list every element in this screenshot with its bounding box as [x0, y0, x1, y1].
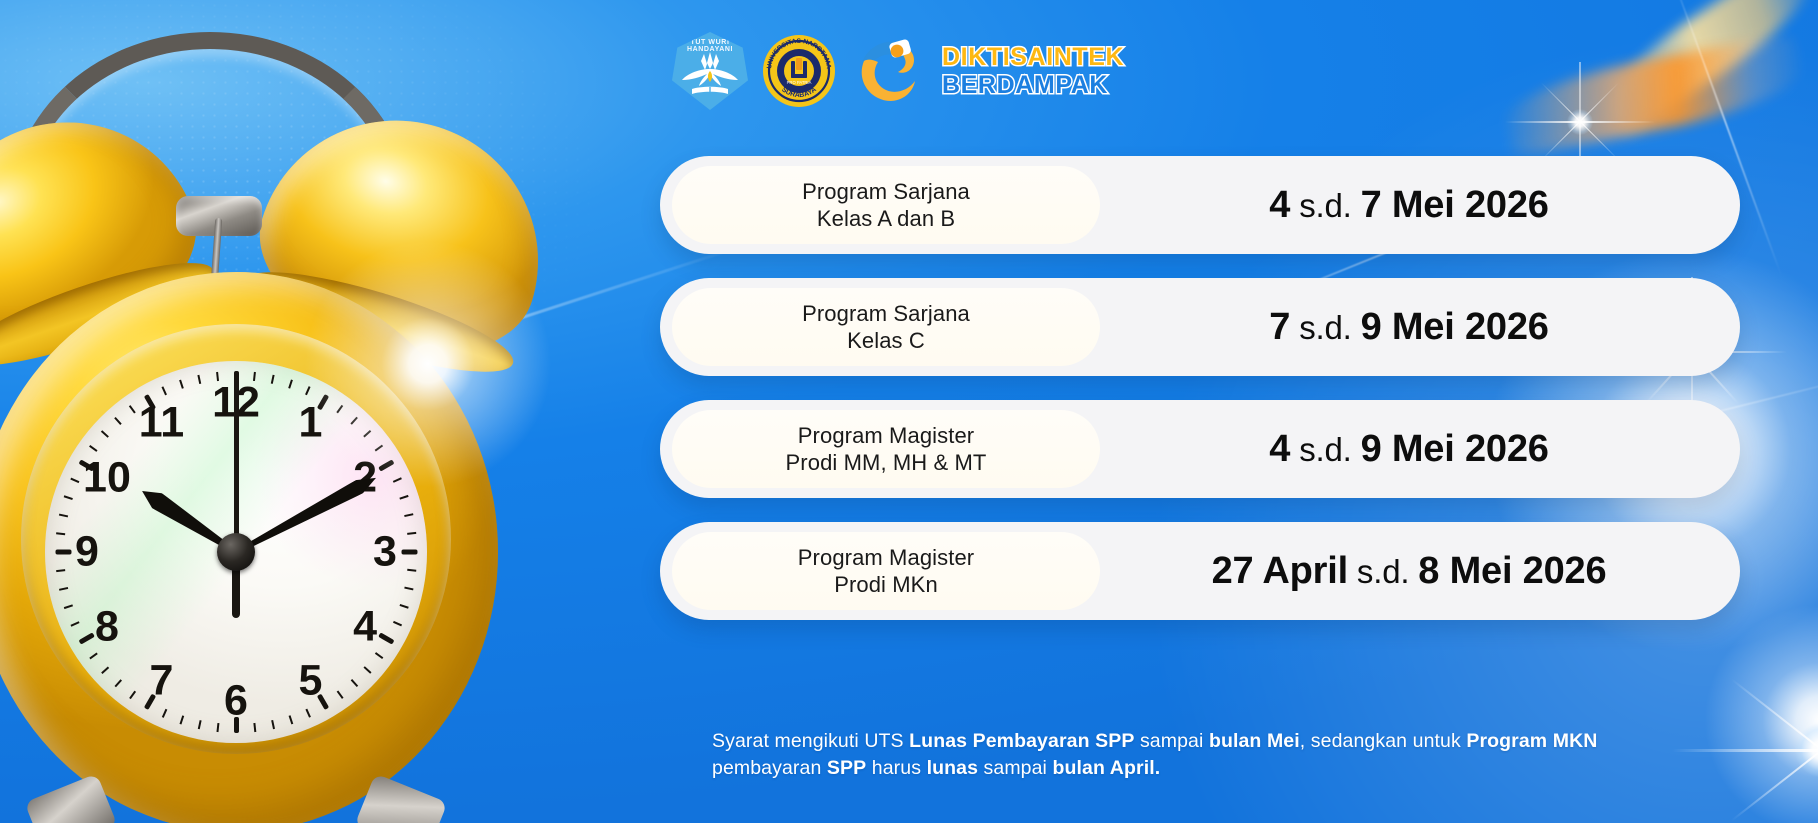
date-end: 8 Mei 2026: [1418, 550, 1606, 592]
footer-emphasis: SPP: [827, 757, 866, 779]
footer-emphasis: bulan April.: [1053, 757, 1161, 779]
footer-emphasis: lunas: [927, 757, 978, 779]
program-label: Program MagisterProdi MKn: [798, 544, 974, 599]
footer-text: Syarat mengikuti UTS: [712, 730, 909, 752]
program-label-line2: Kelas A dan B: [802, 205, 970, 232]
program-label-line1: Program Magister: [798, 544, 974, 571]
date-end: 7 Mei 2026: [1361, 184, 1549, 226]
brand-line-diktisaintek: DIKTISAINTEK: [942, 45, 1124, 70]
schedule-date: 7 s.d. 9 Mei 2026: [1100, 306, 1740, 349]
date-separator: s.d.: [1290, 431, 1360, 468]
date-start: 7: [1269, 306, 1290, 348]
schedule-card: Program SarjanaKelas A dan B4 s.d. 7 Mei…: [660, 156, 1740, 254]
footer-note: Syarat mengikuti UTS Lunas Pembayaran SP…: [712, 728, 1612, 782]
program-label-line1: Program Sarjana: [802, 300, 970, 327]
date-start: 27 April: [1212, 550, 1348, 592]
footer-text: pembayaran: [712, 757, 827, 779]
footer-text: sampai: [978, 757, 1053, 779]
date-separator: s.d.: [1290, 309, 1360, 346]
footer-emphasis: Program MKN: [1466, 730, 1597, 752]
diktisaintek-mark-icon: [850, 35, 920, 107]
schedule-date: 27 April s.d. 8 Mei 2026: [1100, 550, 1740, 593]
universitas-narotama-logo: PRO PATRIA UNIVERSITAS NAROTAMA SURABAYA: [762, 34, 836, 108]
program-label-line2: Prodi MM, MH & MT: [786, 449, 987, 476]
narotama-motto: PRO PATRIA: [787, 80, 812, 85]
program-label-line1: Program Magister: [786, 422, 987, 449]
program-label: Program SarjanaKelas C: [802, 300, 970, 355]
program-label-line1: Program Sarjana: [802, 178, 970, 205]
date-start: 4: [1269, 428, 1290, 470]
footer-text: , sedangkan untuk: [1300, 730, 1467, 752]
schedule-date: 4 s.d. 9 Mei 2026: [1100, 428, 1740, 471]
logo-row: TUT WURI HANDAYANI: [672, 32, 1124, 110]
program-label-pill: Program SarjanaKelas A dan B: [672, 166, 1100, 244]
program-label: Program SarjanaKelas A dan B: [802, 178, 970, 233]
tut-wuri-emblem-icon: [680, 49, 740, 97]
tut-wuri-handayani-logo: TUT WURI HANDAYANI: [672, 32, 748, 110]
schedule-card: Program SarjanaKelas C7 s.d. 9 Mei 2026: [660, 278, 1740, 376]
footer-text: sampai: [1134, 730, 1209, 752]
date-end: 9 Mei 2026: [1361, 306, 1549, 348]
program-label-pill: Program MagisterProdi MM, MH & MT: [672, 410, 1100, 488]
program-label-line2: Kelas C: [802, 327, 970, 354]
date-start: 4: [1269, 184, 1290, 226]
program-label: Program MagisterProdi MM, MH & MT: [786, 422, 987, 477]
schedule-card: Program MagisterProdi MKn27 April s.d. 8…: [660, 522, 1740, 620]
poster-stage: 121234567891011 TUT WURI HANDAYANI: [0, 0, 1818, 823]
schedule-card-list: Program SarjanaKelas A dan B4 s.d. 7 Mei…: [660, 156, 1740, 620]
program-label-pill: Program SarjanaKelas C: [672, 288, 1100, 366]
schedule-card: Program MagisterProdi MM, MH & MT4 s.d. …: [660, 400, 1740, 498]
date-separator: s.d.: [1348, 553, 1418, 590]
brand-line-berdampak: BERDAMPAK: [942, 73, 1124, 98]
date-end: 9 Mei 2026: [1361, 428, 1549, 470]
date-separator: s.d.: [1290, 187, 1360, 224]
program-label-pill: Program MagisterProdi MKn: [672, 532, 1100, 610]
footer-emphasis: Lunas Pembayaran SPP: [909, 730, 1134, 752]
footer-text: harus: [866, 757, 926, 779]
program-label-line2: Prodi MKn: [798, 571, 974, 598]
schedule-date: 4 s.d. 7 Mei 2026: [1100, 184, 1740, 227]
footer-emphasis: bulan Mei: [1209, 730, 1300, 752]
diktisaintek-wordmark: DIKTISAINTEK BERDAMPAK: [942, 45, 1124, 98]
